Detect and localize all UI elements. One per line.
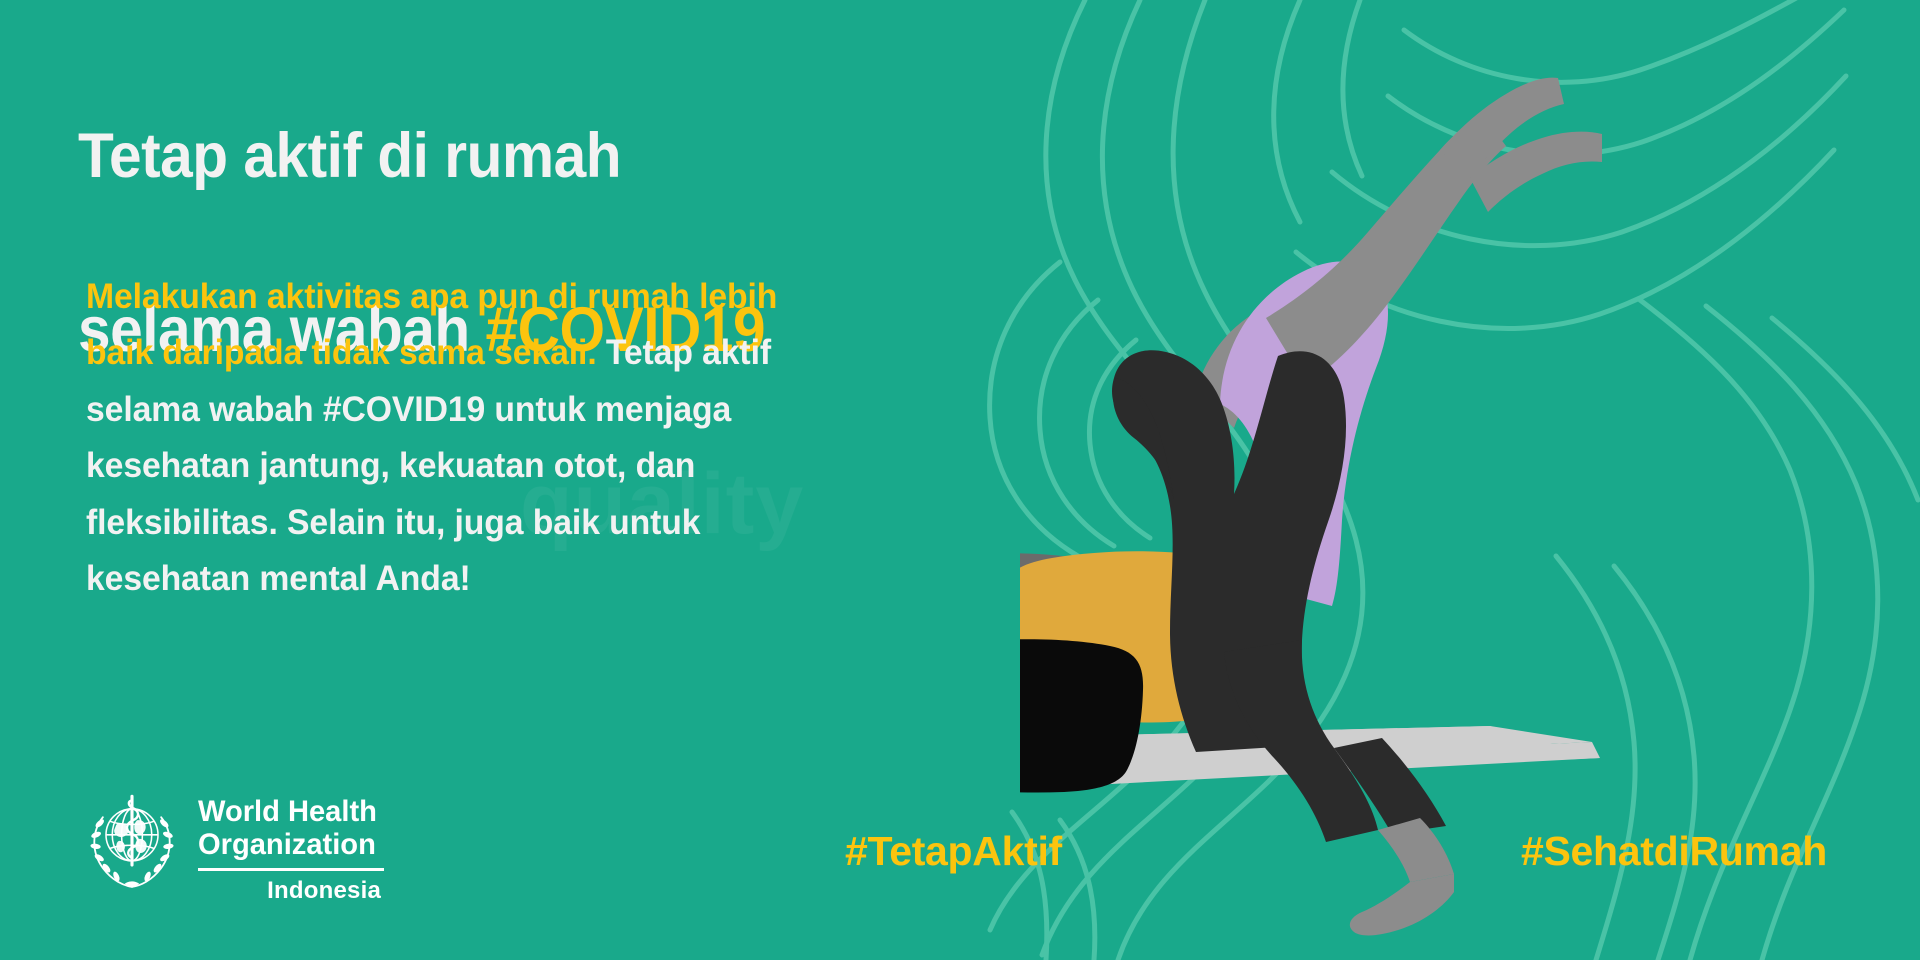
figure-leg xyxy=(1224,640,1378,842)
hashtag-tetap-aktif: #TetapAktif xyxy=(845,828,1062,875)
figure-near-arm xyxy=(1266,114,1506,384)
figure-torso xyxy=(1112,350,1346,752)
who-divider xyxy=(198,868,384,871)
figure-hand-lower xyxy=(1470,132,1602,212)
figure-leg-lower xyxy=(1334,738,1446,834)
figure-ankle xyxy=(1378,818,1454,882)
who-country-label: Indonesia xyxy=(267,877,384,905)
yoga-block-black xyxy=(1020,639,1143,792)
who-org-line-2: Organization xyxy=(198,829,378,862)
figure-foot xyxy=(1350,874,1454,935)
figure-headscarf xyxy=(1220,262,1388,606)
who-org-line-1: World Health xyxy=(198,796,378,829)
who-emblem-icon xyxy=(80,787,184,891)
yoga-block-ochre xyxy=(1020,551,1249,722)
yoga-mat-shape xyxy=(1020,726,1600,792)
headline-line-1: Tetap aktif di rumah xyxy=(78,121,621,191)
yoga-block-gray xyxy=(1020,553,1123,722)
body-paragraph: Melakukan aktivitas apa pun di rumah leb… xyxy=(86,268,789,607)
stretching-figure-illustration xyxy=(1020,0,1920,960)
who-logo: World Health Organization Indonesia xyxy=(80,790,384,905)
figure-far-arm xyxy=(1196,146,1472,428)
hashtag-sehat-dirumah: #SehatdiRumah xyxy=(1521,828,1827,875)
figure-hand-upper xyxy=(1440,78,1564,178)
figure-bust xyxy=(1113,378,1174,500)
who-wordmark: World Health Organization Indonesia xyxy=(198,796,384,905)
who-campaign-poster: quality Tetap aktif di rumah selama waba… xyxy=(0,0,1920,960)
